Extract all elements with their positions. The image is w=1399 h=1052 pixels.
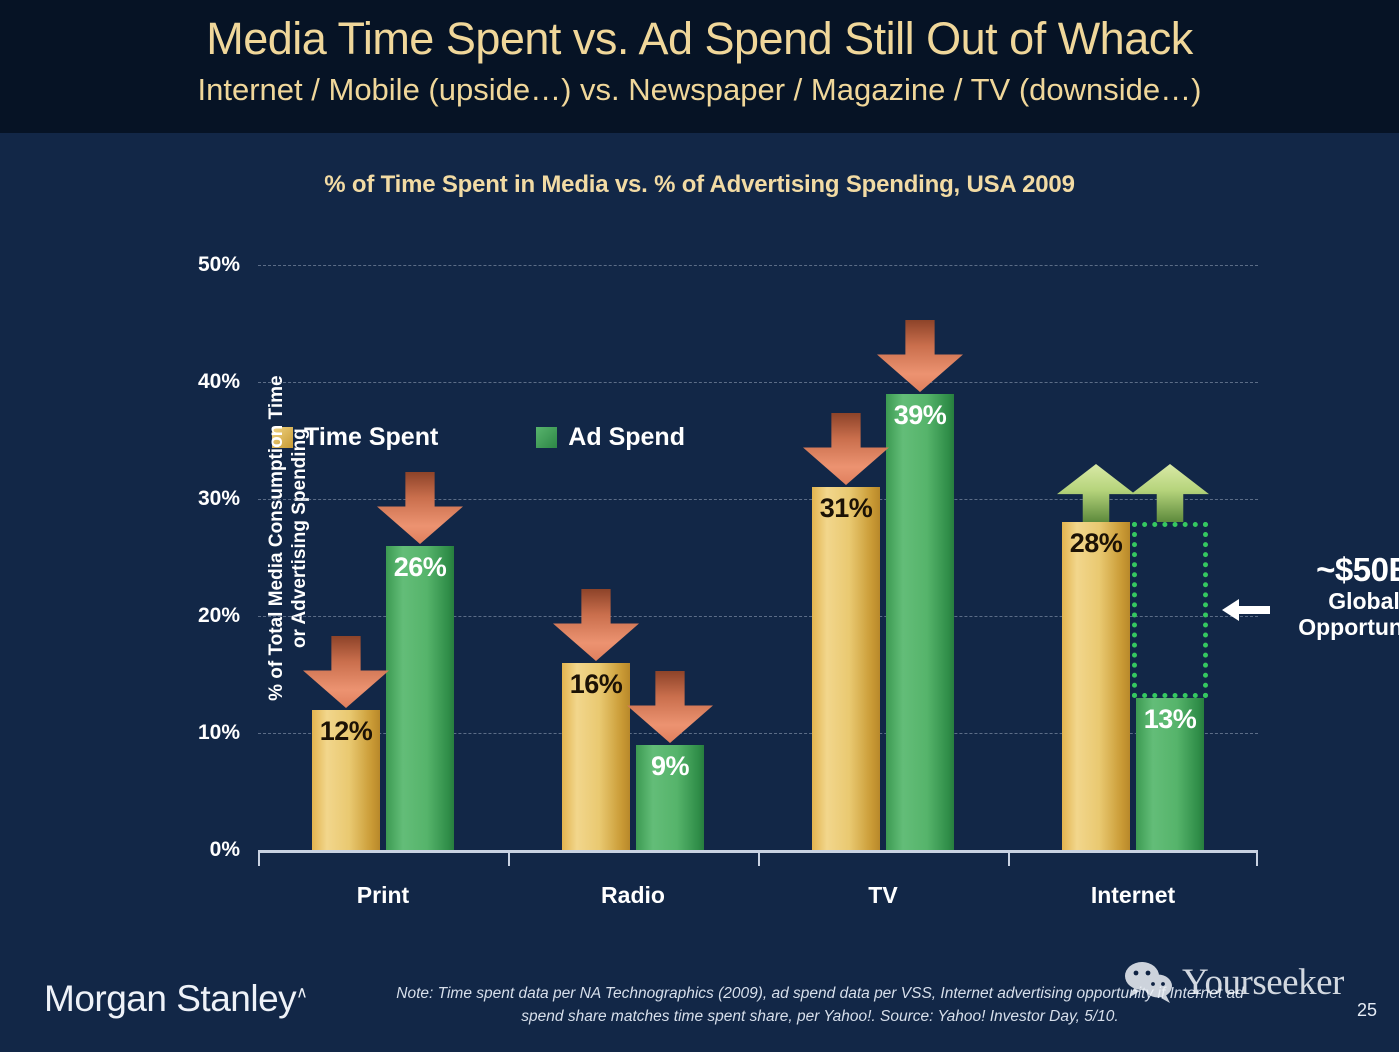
y-axis-tick-label: 0% [150,838,240,862]
down-arrow-icon [303,636,389,713]
down-arrow-icon [553,589,639,666]
bar-radio-time-spent: 16% [562,663,630,850]
x-axis-tick [1256,850,1258,866]
chart-title: % of Time Spent in Media vs. % of Advert… [0,171,1399,199]
opportunity-box [1132,522,1208,698]
bar-value-label: 28% [1062,528,1130,559]
footnote-line-2: spend share matches time spent share, pe… [315,1005,1325,1028]
slide-header: Media Time Spent vs. Ad Spend Still Out … [0,0,1399,133]
morgan-stanley-logo: Morgan Stanley∧ [44,978,307,1020]
bar-print-ad-spend: 26% [386,546,454,850]
y-axis-title-line1: % of Total Media Consumption Time [266,375,287,700]
x-axis-tick [508,850,510,866]
slide-body: % of Time Spent in Media vs. % of Advert… [0,133,1399,1052]
x-axis-tick [258,850,260,866]
up-arrow-icon [1131,464,1209,527]
x-axis-label-tv: TV [868,882,897,909]
x-axis-tick [758,850,760,866]
opportunity-sub-line1: Global [1276,589,1399,615]
up-arrow-icon [1057,464,1135,527]
x-axis-tick [1008,850,1010,866]
page-title: Media Time Spent vs. Ad Spend Still Out … [0,16,1399,61]
bar-value-label: 16% [562,669,630,700]
chart-plot-area: % of Total Media Consumption Time or Adv… [258,265,1258,850]
x-axis-label-print: Print [357,882,409,909]
down-arrow-icon [877,320,963,397]
opportunity-callout-text: ~$50B Global Opportunity [1276,552,1399,640]
slide: Media Time Spent vs. Ad Spend Still Out … [0,0,1399,1052]
bar-value-label: 12% [312,716,380,747]
bar-internet-time-spent: 28% [1062,522,1130,850]
down-arrow-icon [803,413,889,490]
logo-text: Morgan Stanley [44,978,296,1019]
y-axis-tick-label: 20% [150,604,240,628]
footnote-line-1: Note: Time spent data per NA Technograph… [396,985,1243,1002]
y-axis-tick-label: 40% [150,370,240,394]
page-subtitle: Internet / Mobile (upside…) vs. Newspape… [0,74,1399,105]
y-axis-tick-label: 10% [150,721,240,745]
gridline [258,382,1258,383]
y-axis-tick-label: 30% [150,487,240,511]
bar-value-label: 26% [386,552,454,583]
bar-radio-ad-spend: 9% [636,745,704,850]
bar-print-time-spent: 12% [312,710,380,850]
bar-value-label: 13% [1136,704,1204,735]
watermark-text: Yourseeker [1182,961,1344,1004]
bar-internet-ad-spend: 13% [1136,698,1204,850]
page-number: 25 [1357,1000,1377,1021]
bar-tv-time-spent: 31% [812,487,880,850]
watermark: Yourseeker [1122,960,1344,1004]
down-arrow-icon [627,671,713,748]
bar-value-label: 9% [636,751,704,782]
logo-mark-icon: ∧ [296,985,307,1002]
wechat-icon [1122,960,1176,1004]
x-axis-label-internet: Internet [1091,882,1175,909]
down-arrow-icon [377,472,463,549]
bar-tv-ad-spend: 39% [886,394,954,850]
gridline [258,265,1258,266]
bar-value-label: 31% [812,493,880,524]
opportunity-sub-line2: Opportunity [1276,615,1399,641]
opportunity-amount: ~$50B [1276,552,1399,589]
x-axis-label-radio: Radio [601,882,665,909]
y-axis-tick-label: 50% [150,253,240,277]
bar-value-label: 39% [886,400,954,431]
callout-left-arrow-icon [1222,596,1270,629]
